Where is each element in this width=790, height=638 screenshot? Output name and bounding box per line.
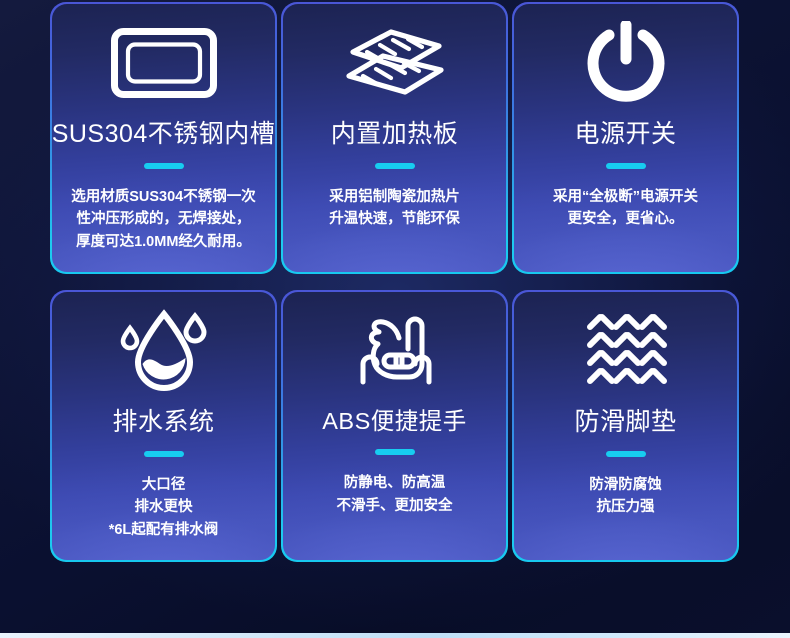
card-title: 排水系统 (112, 410, 214, 435)
card-description: 采用“全极断”电源开关 更安全，更省心。 (543, 186, 708, 231)
card-body: ABS便捷提手 防静电、防高温 不滑手、更加安全 (283, 292, 507, 561)
heating-plate-icon (283, 4, 507, 122)
title-divider (375, 163, 415, 169)
feature-card-grid: SUS304不锈钢内槽 选用材质SUS304不锈钢一次 性冲压形成的，无焊接处，… (50, 2, 740, 564)
feature-grid-page: SUS304不锈钢内槽 选用材质SUS304不锈钢一次 性冲压形成的，无焊接处，… (0, 0, 790, 638)
card-description: 防滑防腐蚀 抗压力强 (579, 474, 672, 519)
card-description: 选用材质SUS304不锈钢一次 性冲压形成的，无焊接处， 厚度可达1.0MM经久… (61, 186, 266, 253)
feature-card-inner-tank[interactable]: SUS304不锈钢内槽 选用材质SUS304不锈钢一次 性冲压形成的，无焊接处，… (50, 2, 277, 274)
water-drop-icon (52, 292, 276, 410)
card-body: 电源开关 采用“全极断”电源开关 更安全，更省心。 (514, 4, 738, 273)
feature-card-anti-slip-pad[interactable]: 防滑脚垫 防滑防腐蚀 抗压力强 (512, 290, 739, 562)
power-switch-icon (514, 4, 738, 122)
bottom-accent-strip (0, 633, 790, 638)
card-title: ABS便捷提手 (322, 410, 467, 434)
title-divider (144, 163, 184, 169)
card-title: 防滑脚垫 (574, 410, 676, 435)
card-title: 电源开关 (574, 122, 676, 147)
card-title: 内置加热板 (331, 122, 459, 147)
card-description: 防静电、防高温 不滑手、更加安全 (327, 472, 463, 517)
inner-tank-icon (52, 4, 276, 122)
hand-grip-icon (283, 292, 507, 410)
title-divider (606, 451, 646, 457)
title-divider (144, 451, 184, 457)
feature-card-power-switch[interactable]: 电源开关 采用“全极断”电源开关 更安全，更省心。 (512, 2, 739, 274)
card-body: 内置加热板 采用铝制陶瓷加热片 升温快速，节能环保 (283, 4, 507, 273)
feature-card-drainage-system[interactable]: 排水系统 大口径 排水更快 *6L起配有排水阀 (50, 290, 277, 562)
feature-card-abs-handle[interactable]: ABS便捷提手 防静电、防高温 不滑手、更加安全 (281, 290, 508, 562)
anti-slip-pad-icon (514, 292, 738, 410)
card-title: SUS304不锈钢内槽 (52, 122, 276, 147)
card-body: 防滑脚垫 防滑防腐蚀 抗压力强 (514, 292, 738, 561)
card-description: 采用铝制陶瓷加热片 升温快速，节能环保 (319, 186, 470, 231)
title-divider (375, 449, 415, 455)
card-description: 大口径 排水更快 *6L起配有排水阀 (99, 474, 229, 541)
feature-card-heating-plate[interactable]: 内置加热板 采用铝制陶瓷加热片 升温快速，节能环保 (281, 2, 508, 274)
title-divider (606, 163, 646, 169)
card-body: 排水系统 大口径 排水更快 *6L起配有排水阀 (52, 292, 276, 561)
card-body: SUS304不锈钢内槽 选用材质SUS304不锈钢一次 性冲压形成的，无焊接处，… (52, 4, 276, 273)
